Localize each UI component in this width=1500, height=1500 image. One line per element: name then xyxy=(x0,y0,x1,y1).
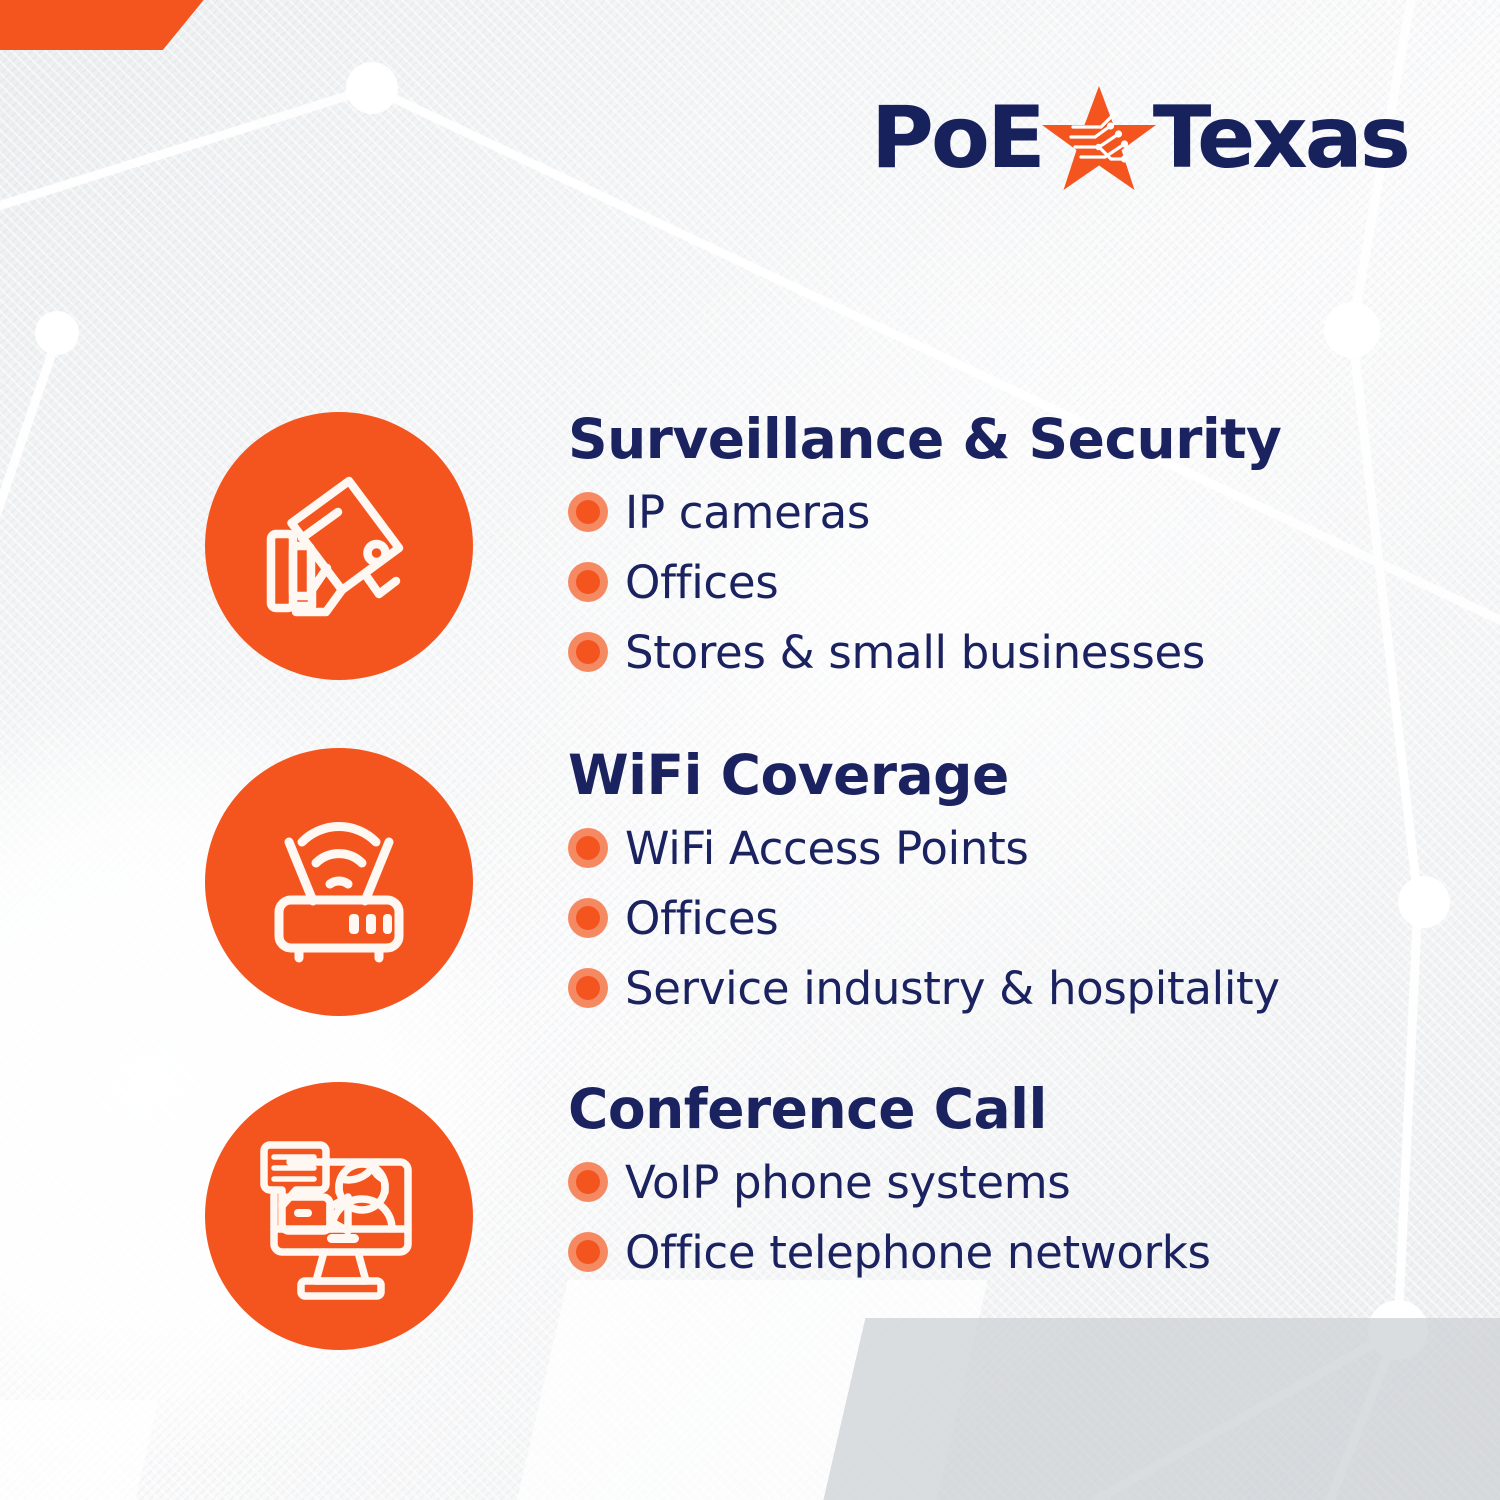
bullet-dot-icon xyxy=(568,492,608,532)
bullet-label: VoIP phone systems xyxy=(625,1160,1070,1205)
bullet-label: Office telephone networks xyxy=(625,1230,1211,1275)
section-heading: Conference Call xyxy=(568,1082,1211,1137)
section-conference-call: Conference Call VoIP phone systems Offic… xyxy=(205,1082,1211,1350)
section-text-wifi: WiFi Coverage WiFi Access Points Offices… xyxy=(568,748,1280,1029)
bullet-dot-icon xyxy=(568,1162,608,1202)
cctv-camera-icon xyxy=(249,456,429,636)
list-item: Office telephone networks xyxy=(568,1223,1211,1281)
section-text-surveillance: Surveillance & Security IP cameras Offic… xyxy=(568,412,1281,693)
section-wifi-coverage: WiFi Coverage WiFi Access Points Offices… xyxy=(205,748,1280,1029)
list-item: Offices xyxy=(568,889,1280,947)
bullet-label: Stores & small businesses xyxy=(625,630,1205,675)
applications-list: Surveillance & Security IP cameras Offic… xyxy=(0,0,1500,1500)
list-item: Service industry & hospitality xyxy=(568,959,1280,1017)
bullet-dot-icon xyxy=(568,562,608,602)
video-conference-icon xyxy=(252,1129,427,1304)
bullet-dot-icon xyxy=(568,1232,608,1272)
video-conference-icon-badge xyxy=(205,1082,473,1350)
section-text-conference: Conference Call VoIP phone systems Offic… xyxy=(568,1082,1211,1293)
list-item: VoIP phone systems xyxy=(568,1153,1211,1211)
infographic-canvas: PoE Texas xyxy=(0,0,1500,1500)
bullet-label: IP cameras xyxy=(625,490,870,535)
bullet-label: WiFi Access Points xyxy=(625,826,1029,871)
wifi-router-icon xyxy=(254,797,424,967)
wifi-router-icon-badge xyxy=(205,748,473,1016)
cctv-camera-icon-badge xyxy=(205,412,473,680)
bullet-dot-icon xyxy=(568,968,608,1008)
bullet-dot-icon xyxy=(568,898,608,938)
list-item: IP cameras xyxy=(568,483,1281,541)
bullet-dot-icon xyxy=(568,828,608,868)
section-heading: WiFi Coverage xyxy=(568,748,1280,803)
bullet-label: Service industry & hospitality xyxy=(625,966,1280,1011)
section-heading: Surveillance & Security xyxy=(568,412,1281,467)
list-item: Stores & small businesses xyxy=(568,623,1281,681)
list-item: Offices xyxy=(568,553,1281,611)
bullet-dot-icon xyxy=(568,632,608,672)
section-surveillance-security: Surveillance & Security IP cameras Offic… xyxy=(205,412,1281,693)
bullet-label: Offices xyxy=(625,560,778,605)
list-item: WiFi Access Points xyxy=(568,819,1280,877)
bullet-label: Offices xyxy=(625,896,778,941)
